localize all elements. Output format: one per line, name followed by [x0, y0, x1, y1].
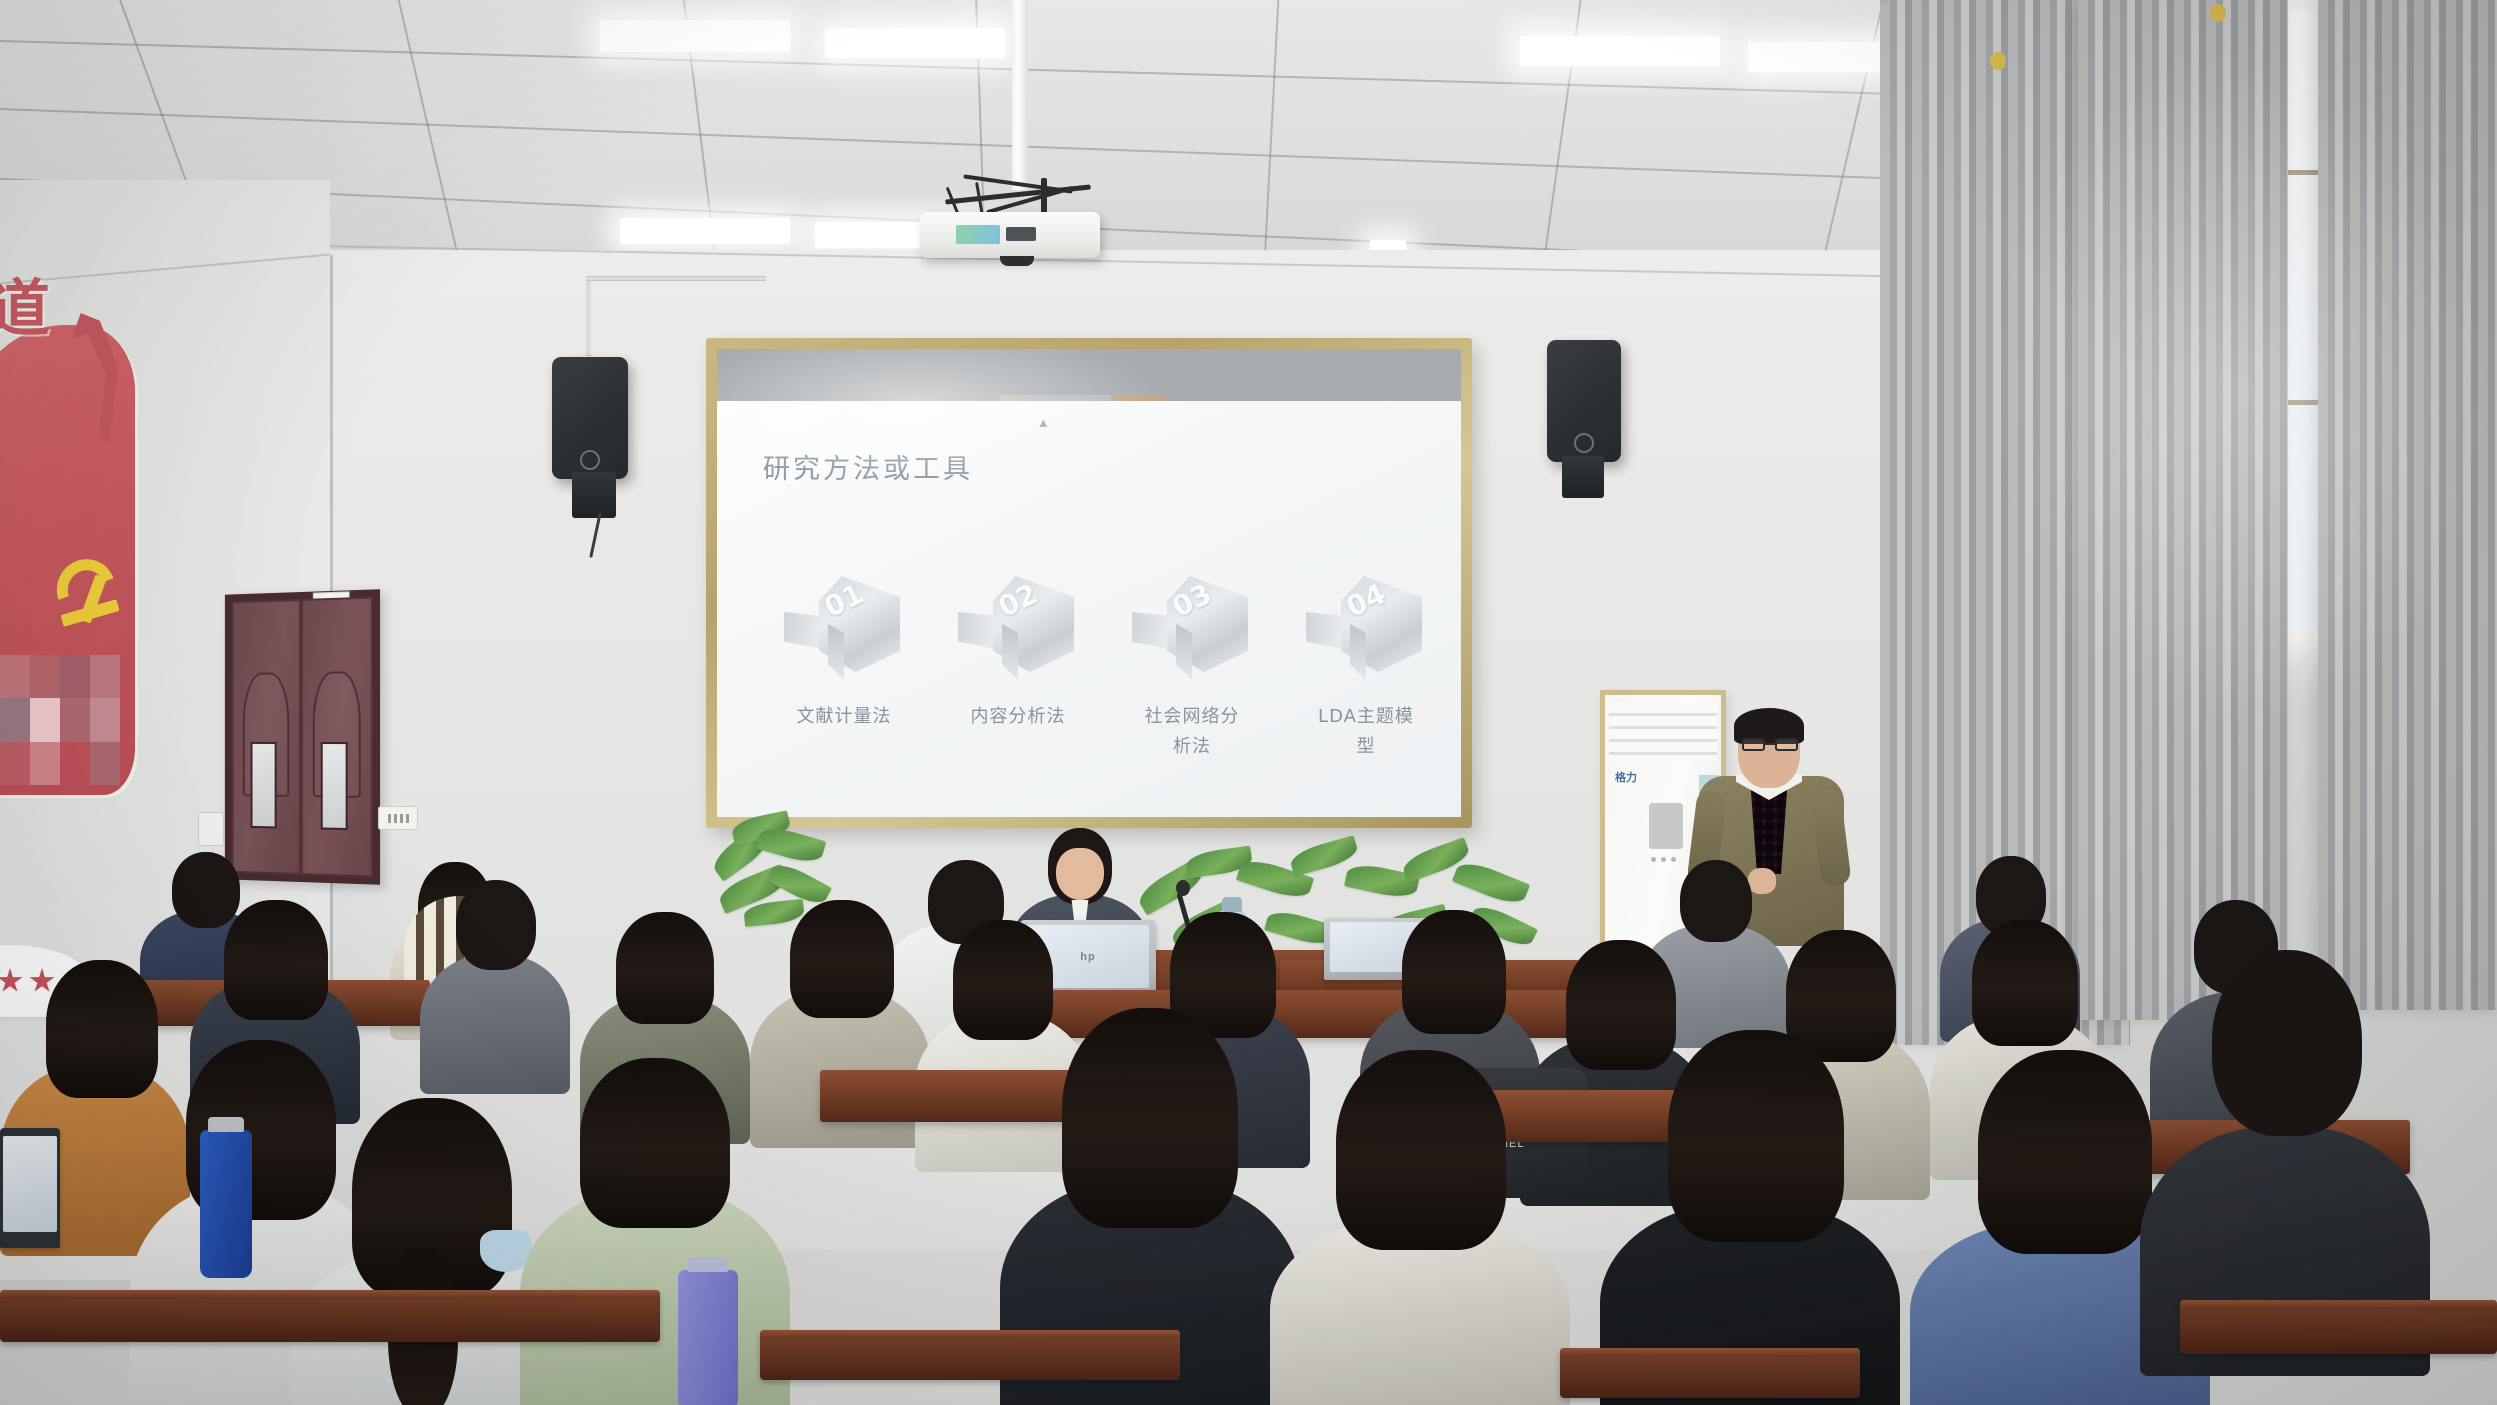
curtain-hook: [1990, 52, 2006, 70]
projector-ports: [1006, 227, 1036, 241]
mouse-cursor-icon: ▲: [1037, 415, 1049, 429]
ceiling-projector: [920, 212, 1100, 258]
item-label: 文献计量法: [769, 702, 919, 732]
audience-member: [420, 880, 570, 1080]
projector-ports: [956, 225, 1000, 244]
wall-conduit: [586, 276, 766, 281]
curtain-hook: [2210, 4, 2226, 22]
hexagon-3d-icon: 04: [1306, 576, 1426, 684]
pixelated-blur-region: [0, 655, 120, 785]
item-label: 内容分析法: [943, 702, 1093, 732]
hexagon-3d-icon: 01: [784, 576, 904, 684]
item-label: LDA主题模 型: [1291, 702, 1441, 762]
glasses-icon: [1742, 738, 1798, 751]
classroom-door[interactable]: [225, 589, 380, 885]
door-leaf-left[interactable]: [232, 599, 301, 875]
ceiling-light: [600, 20, 790, 52]
projector-lens: [1000, 256, 1034, 266]
wall-conduit: [586, 278, 591, 356]
presentation-slide: ▲ 研究方法或工具 01 文献计量法: [717, 401, 1461, 817]
speaker-bracket: [572, 472, 616, 518]
hexagon-3d-icon: 03: [1132, 576, 1252, 684]
light-switch[interactable]: [198, 812, 224, 846]
hexagon-3d-icon: 02: [958, 576, 1078, 684]
ac-brand-logo: 格力: [1615, 769, 1637, 785]
projection-screen[interactable]: ▲ 研究方法或工具 01 文献计量法: [717, 349, 1461, 817]
projector-cable-bundle: [945, 178, 1091, 214]
thermos-bottle-blue[interactable]: [200, 1130, 252, 1278]
ceiling-light: [825, 28, 1005, 58]
thermos-bottle-purple[interactable]: [678, 1270, 738, 1405]
door-leaf-right[interactable]: [301, 597, 373, 878]
slide-item-03: 03 社会网络分 析法: [1117, 576, 1267, 806]
lecture-hall-photo: 道: [0, 0, 2497, 1405]
student-face: [1056, 848, 1104, 900]
hammer-sickle-icon: [55, 555, 127, 635]
wall-calligraphy-char: 道: [0, 278, 38, 348]
slide-item-01: 01 文献计量法: [769, 576, 919, 806]
bench-row-front: [760, 1330, 1180, 1380]
ceiling-light: [620, 218, 790, 244]
slide-item-02: 02 内容分析法: [943, 576, 1093, 806]
laptop[interactable]: [0, 1128, 60, 1248]
projector-mount-pole: [1012, 0, 1028, 190]
screen-top-band: [717, 349, 1461, 401]
bench-row-front: [2180, 1300, 2497, 1354]
curtain-panel[interactable]: [2318, 0, 2497, 1010]
audience-member-foreground: [520, 1058, 790, 1405]
audience-member-foreground: [1270, 1050, 1570, 1405]
bench-row-front: [1560, 1348, 1860, 1398]
slide-shapes-row: 01 文献计量法 02 内容分析法: [769, 576, 1441, 806]
microphone-head: [1176, 880, 1190, 896]
wall-speaker-right: [1547, 340, 1621, 462]
wall-speaker-left: [552, 357, 628, 479]
ac-display-panel[interactable]: [1649, 803, 1683, 849]
speaker-bracket: [1562, 456, 1604, 498]
door-glass-panel: [320, 742, 347, 830]
bench-row-front: [0, 1290, 660, 1342]
power-outlet[interactable]: [378, 806, 418, 830]
ceiling-light: [1520, 36, 1720, 66]
curtain-panel[interactable]: [2078, 0, 2288, 1020]
slide-item-04: 04 LDA主题模 型: [1291, 576, 1441, 806]
slide-title: 研究方法或工具: [763, 447, 973, 486]
item-label: 社会网络分 析法: [1117, 702, 1267, 762]
projection-screen-frame: ▲ 研究方法或工具 01 文献计量法: [706, 338, 1472, 828]
door-glass-panel: [250, 742, 276, 829]
